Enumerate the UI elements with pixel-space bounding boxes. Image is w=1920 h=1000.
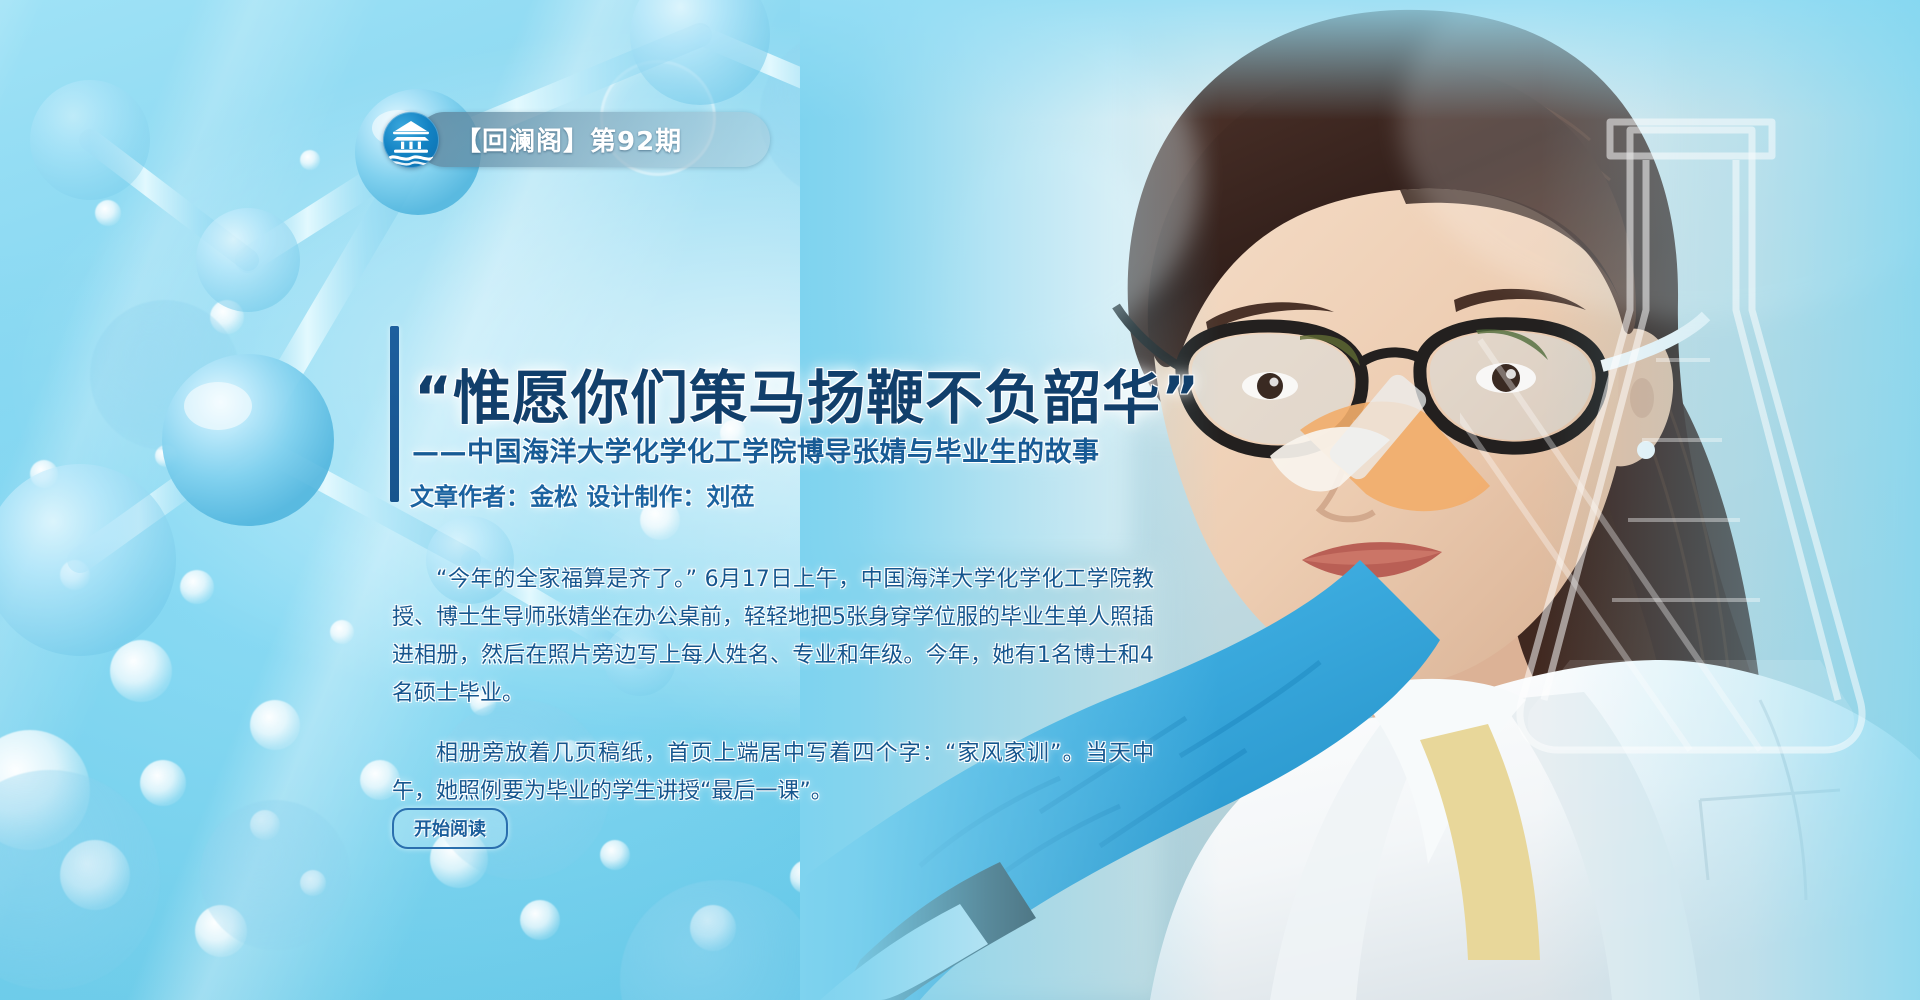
byline: 文章作者：金松 设计制作：刘莅 <box>410 477 754 512</box>
page-title: “惟愿你们策马扬鞭不负韶华” <box>414 351 1200 435</box>
issue-badge-label: 【回澜阁】第92期 <box>455 121 682 158</box>
title-accent-bar <box>390 326 399 502</box>
article-paragraph: 相册旁放着几页稿纸，首页上端居中写着四个字：“家风家训”。当天中午，她照例要为毕… <box>392 735 1154 811</box>
ocean-university-pavilion-logo-icon <box>383 112 439 168</box>
photo-fade-right <box>1540 0 1920 1000</box>
article-body: “今年的全家福算是齐了。” 6月17日上午，中国海洋大学化学化工学院教授、博士生… <box>392 561 1154 833</box>
issue-badge[interactable]: 【回澜阁】第92期 <box>383 112 682 167</box>
hero-photo <box>800 0 1920 1000</box>
page-subtitle: ——中国海洋大学化学化工学院博导张婧与毕业生的故事 <box>412 430 1100 469</box>
article-cover-page: 【回澜阁】第92期 “惟愿你们策马扬鞭不负韶华” ——中国海洋大学化学化工学院博… <box>0 0 1920 1000</box>
start-reading-button[interactable]: 开始阅读 <box>392 808 508 849</box>
article-paragraph: “今年的全家福算是齐了。” 6月17日上午，中国海洋大学化学化工学院教授、博士生… <box>392 561 1154 713</box>
photo-fade-left <box>800 0 1220 1000</box>
